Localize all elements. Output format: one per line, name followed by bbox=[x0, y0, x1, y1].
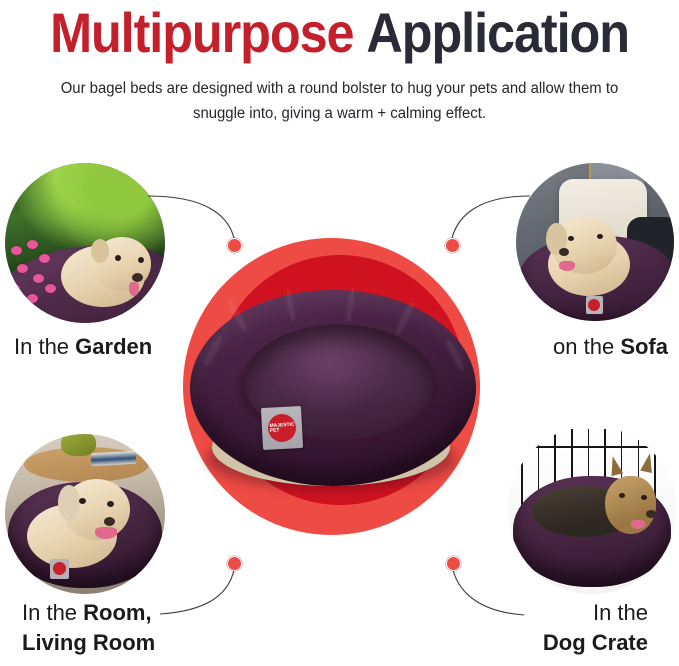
bolster-seam bbox=[346, 288, 356, 322]
callout-label-sofa-bold: Sofa bbox=[620, 334, 668, 359]
callout-label-dog-crate: In the Dog Crate bbox=[543, 598, 648, 658]
room-dog-tongue bbox=[95, 527, 117, 539]
bolster-seam bbox=[394, 301, 415, 336]
multipurpose-application-infographic: Multipurpose Application Our bagel beds … bbox=[0, 0, 679, 666]
connector-dot-sofa bbox=[445, 238, 460, 253]
majestic-pet-logo-icon bbox=[53, 562, 66, 575]
garden-scene bbox=[5, 163, 165, 323]
callout-label-living-room: In the Room, Living Room bbox=[22, 598, 155, 658]
callout-label-sofa: on the Sofa bbox=[553, 332, 668, 362]
books-stack bbox=[91, 450, 136, 465]
brand-tag: MAJESTIC PET bbox=[261, 406, 303, 450]
callout-label-living-room-bold: Room, bbox=[83, 600, 151, 625]
callout-label-living-room-line2: Living Room bbox=[22, 628, 155, 658]
subtitle-line-2: snuggle into, giving a warm + calming ef… bbox=[37, 101, 643, 126]
callout-label-dog-crate-prefix: In the bbox=[593, 600, 648, 625]
brand-tag-text: MAJESTIC PET bbox=[269, 422, 294, 433]
gsd-dog-nose bbox=[646, 510, 656, 518]
majestic-pet-logo-icon: MAJESTIC PET bbox=[267, 413, 296, 442]
sofa-dog-tongue bbox=[559, 261, 575, 271]
bolster-seam bbox=[202, 335, 223, 368]
callout-label-garden-bold: Garden bbox=[75, 334, 152, 359]
callout-label-living-room-prefix: In the bbox=[22, 600, 83, 625]
bolster-seam bbox=[444, 339, 465, 372]
connector-dot-garden bbox=[227, 238, 242, 253]
garden-dog-tongue bbox=[129, 282, 139, 296]
sofa-dog-eye bbox=[568, 236, 574, 241]
callout-label-garden-prefix: In the bbox=[14, 334, 75, 359]
callout-label-dog-crate-line2: Dog Crate bbox=[543, 628, 648, 658]
garden-dog-eye bbox=[138, 257, 144, 263]
garden-dog-eye bbox=[115, 255, 121, 261]
connector-dot-dog-crate bbox=[446, 556, 461, 571]
majestic-pet-logo-icon bbox=[588, 299, 600, 311]
callout-photo-dog-crate bbox=[508, 426, 676, 594]
page-title: Multipurpose Application bbox=[34, 0, 645, 66]
bolster-seam bbox=[285, 288, 296, 322]
callout-label-dog-crate-line1: In the bbox=[543, 598, 648, 628]
subtitle: Our bagel beds are designed with a round… bbox=[37, 76, 643, 126]
gsd-dog-tongue bbox=[631, 520, 645, 529]
connector-dot-living-room bbox=[227, 556, 242, 571]
page-title-part1: Multipurpose bbox=[50, 1, 353, 64]
callout-photo-garden bbox=[5, 163, 165, 323]
callout-label-living-room-line2-bold: Living Room bbox=[22, 630, 155, 655]
sofa-scene bbox=[516, 163, 674, 321]
sofa-dog-eye bbox=[597, 234, 603, 239]
callout-photo-sofa bbox=[516, 163, 674, 321]
garden-dog-ear bbox=[91, 239, 109, 263]
callout-label-garden: In the Garden bbox=[14, 332, 152, 362]
room-dog-eye bbox=[79, 498, 86, 504]
brand-tag bbox=[50, 559, 69, 579]
callout-label-living-room-line1: In the Room, bbox=[22, 598, 155, 628]
callout-label-sofa-prefix: on the bbox=[553, 334, 620, 359]
product-bagel-bed-image: MAJESTIC PET bbox=[190, 290, 476, 505]
dog-crate-scene bbox=[508, 426, 676, 594]
callout-photo-living-room bbox=[5, 434, 165, 594]
living-room-scene bbox=[5, 434, 165, 594]
gsd-dog-eye bbox=[641, 495, 647, 500]
brand-tag bbox=[586, 296, 603, 314]
product-bolster bbox=[190, 290, 476, 486]
garden-flowers bbox=[7, 240, 65, 316]
bolster-seam bbox=[225, 297, 248, 333]
garden-dog-nose bbox=[132, 273, 143, 282]
page-title-part2: Application bbox=[366, 1, 629, 64]
subtitle-line-1: Our bagel beds are designed with a round… bbox=[37, 76, 643, 101]
callout-label-dog-crate-line2-bold: Dog Crate bbox=[543, 630, 648, 655]
